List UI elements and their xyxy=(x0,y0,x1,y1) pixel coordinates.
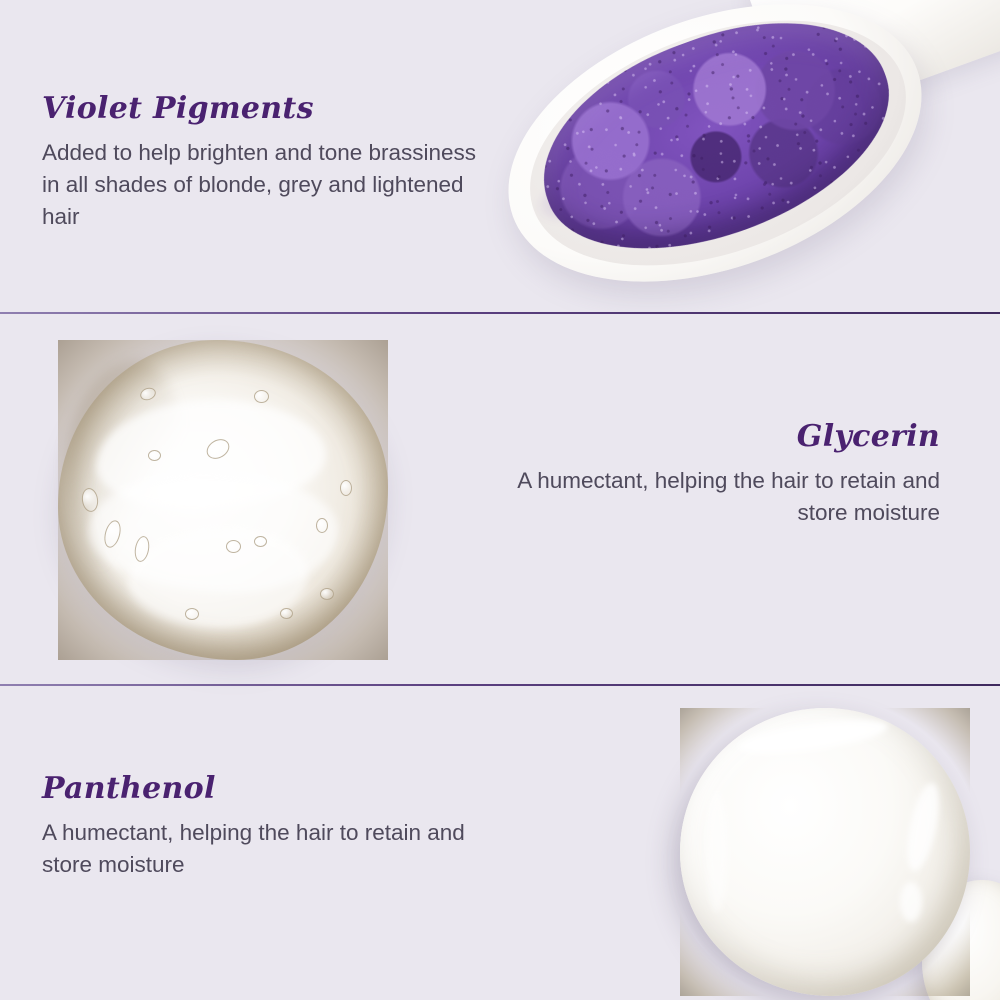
ingredients-infographic: Violet Pigments Added to help brighten a… xyxy=(0,0,1000,1000)
section-divider-2 xyxy=(0,684,1000,686)
panthenol-droplet-image xyxy=(672,702,1000,1000)
gel-bubble xyxy=(226,540,241,553)
glycerin-description: A humectant, helping the hair to retain … xyxy=(490,465,940,529)
panthenol-title: Panthenol xyxy=(42,772,472,805)
gel-bubble xyxy=(185,608,199,620)
gel-rim-shading xyxy=(58,340,388,660)
violet-pigments-text-block: Violet Pigments Added to help brighten a… xyxy=(42,92,482,233)
glycerin-title: Glycerin xyxy=(490,420,940,453)
gel-bubble xyxy=(340,480,352,496)
panthenol-description: A humectant, helping the hair to retain … xyxy=(42,817,472,881)
violet-pigments-description: Added to help brighten and tone brassine… xyxy=(42,137,482,233)
gel-bubble xyxy=(320,588,334,600)
section-violet-pigments: Violet Pigments Added to help brighten a… xyxy=(0,0,1000,312)
glycerin-text-block: Glycerin A humectant, helping the hair t… xyxy=(490,420,940,529)
section-divider-1 xyxy=(0,312,1000,314)
violet-pigments-title: Violet Pigments xyxy=(42,92,482,125)
gel-bubble xyxy=(280,608,293,619)
gel-bubble xyxy=(148,450,161,461)
gel-bubble xyxy=(316,518,328,533)
droplet-highlight xyxy=(900,882,922,922)
gel-bubble xyxy=(254,536,267,547)
spoon-with-violet-powder-image xyxy=(470,0,1000,312)
glycerin-gel-blob-image xyxy=(58,340,388,660)
panthenol-text-block: Panthenol A humectant, helping the hair … xyxy=(42,772,472,881)
gel-bubble xyxy=(254,390,269,403)
droplet-highlight xyxy=(706,792,728,912)
